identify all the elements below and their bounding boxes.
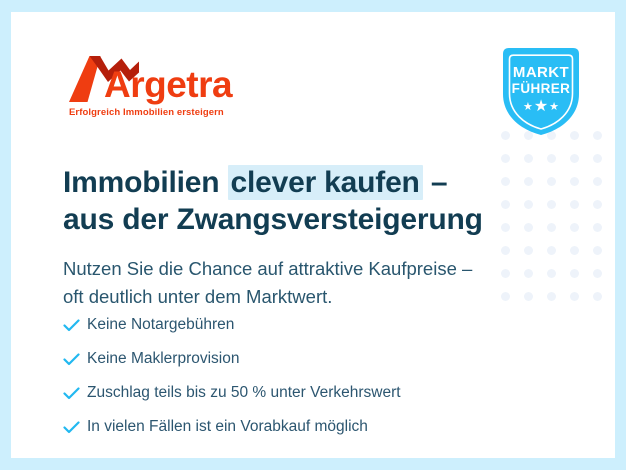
check-icon — [63, 387, 87, 400]
list-item-label: Keine Notargebühren — [87, 317, 234, 333]
promo-banner: Argetra Erfolgreich Immobilien ersteiger… — [11, 12, 615, 458]
dot — [593, 292, 602, 301]
list-item-label: In vielen Fällen ist ein Vorabkauf mögli… — [87, 419, 368, 435]
dot — [547, 154, 556, 163]
dot — [593, 131, 602, 140]
dot — [593, 269, 602, 278]
list-item: Zuschlag teils bis zu 50 % unter Verkehr… — [63, 376, 543, 410]
list-item-label: Keine Maklerprovision — [87, 351, 240, 367]
subheadline: Nutzen Sie die Chance auf attraktive Kau… — [63, 255, 583, 311]
check-icon — [63, 421, 87, 434]
subheadline-line1: Nutzen Sie die Chance auf attraktive Kau… — [63, 258, 472, 279]
dot — [593, 177, 602, 186]
headline: Immobilien clever kaufen – aus der Zwang… — [63, 165, 573, 238]
dot — [593, 223, 602, 232]
headline-line1: Immobilien clever kaufen – — [63, 165, 447, 200]
headline-text-before: Immobilien — [63, 166, 228, 199]
argetra-logo[interactable]: Argetra Erfolgreich Immobilien ersteiger… — [67, 54, 267, 124]
dot — [593, 246, 602, 255]
dot — [570, 154, 579, 163]
dot — [524, 154, 533, 163]
headline-highlight: clever kaufen — [228, 165, 423, 200]
check-icon — [63, 319, 87, 332]
dot — [593, 154, 602, 163]
headline-text-after: – — [423, 166, 448, 199]
list-item: Keine Maklerprovision — [63, 342, 543, 376]
list-item: In vielen Fällen ist ein Vorabkauf mögli… — [63, 410, 543, 444]
check-icon — [63, 353, 87, 366]
subheadline-line2: oft deutlich unter dem Marktwert. — [63, 286, 332, 307]
badge-shield-icon — [495, 42, 587, 140]
headline-line2: aus der Zwangsversteigerung — [63, 203, 483, 236]
list-item-label: Zuschlag teils bis zu 50 % unter Verkehr… — [87, 385, 401, 401]
logo-tagline: Erfolgreich Immobilien ersteigern — [69, 107, 224, 118]
list-item: Keine Notargebühren — [63, 308, 543, 342]
market-leader-badge: MARKT FÜHRER ★ ★ ★ — [495, 42, 587, 140]
benefit-list: Keine Notargebühren Keine Maklerprovisio… — [63, 308, 543, 444]
dot — [501, 154, 510, 163]
dot — [593, 200, 602, 209]
logo-wordmark: Argetra — [104, 66, 232, 103]
